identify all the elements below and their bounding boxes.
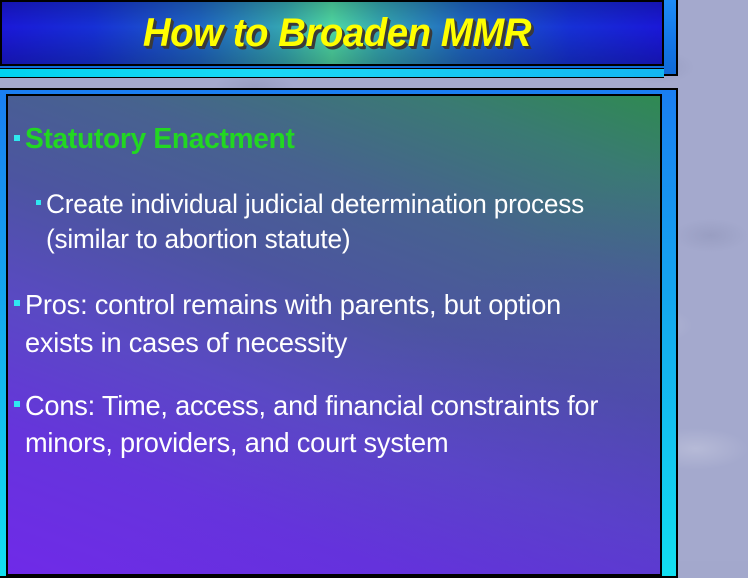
slide-title: How to Broaden MMR (133, 13, 531, 53)
bullet-item-create-process: Create individual judicial determination… (36, 187, 654, 259)
bullet-text-create-process: Create individual judicial determination… (46, 187, 636, 259)
bullet-item-pros: Pros: control remains with parents, but … (14, 286, 654, 360)
square-bullet-icon (14, 135, 20, 141)
bullet-item-cons: Cons: Time, access, and financial constr… (14, 387, 654, 461)
square-bullet-icon (14, 300, 20, 306)
slide-title-bar: How to Broaden MMR (0, 0, 678, 76)
bullet-text-cons: Cons: Time, access, and financial constr… (25, 387, 635, 461)
slide-content-frame: Statutory Enactment Create individual ju… (0, 88, 678, 578)
square-bullet-icon (36, 200, 41, 205)
slide-title-panel: How to Broaden MMR (0, 0, 664, 66)
bullet-text-statutory-enactment: Statutory Enactment (25, 120, 635, 159)
bullet-item-statutory-enactment: Statutory Enactment (14, 120, 654, 159)
square-bullet-icon (14, 401, 20, 407)
bullet-list: Statutory Enactment Create individual ju… (14, 120, 654, 487)
title-accent-bar (0, 68, 664, 78)
bullet-text-pros: Pros: control remains with parents, but … (25, 286, 635, 360)
slide-content-surface: Statutory Enactment Create individual ju… (6, 94, 662, 576)
